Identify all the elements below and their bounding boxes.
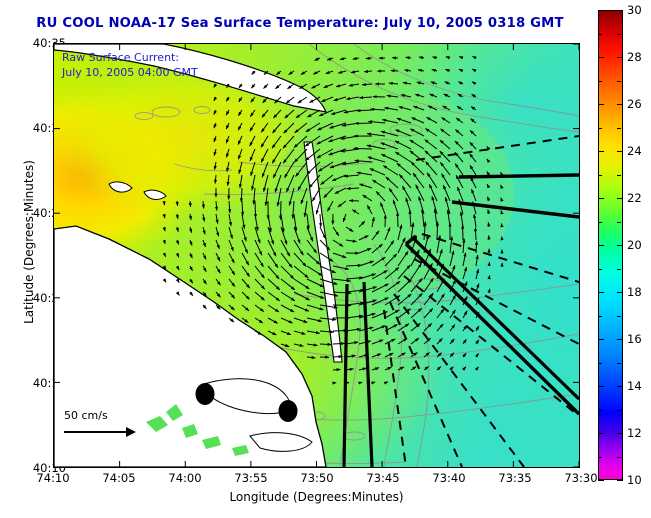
x-tick-label: 73:45 xyxy=(353,471,413,485)
x-tick-label: 73:35 xyxy=(485,471,545,485)
colorbar-tick-label: 24 xyxy=(627,144,642,158)
colorbar-tick-mark xyxy=(598,57,604,58)
x-tick-label: 73:50 xyxy=(287,471,347,485)
colorbar-tick-mark xyxy=(598,433,604,434)
colorbar-tick-mark xyxy=(598,480,604,481)
sst-map-svg xyxy=(54,44,579,467)
annotation-line-2: July 10, 2005 04:00 GMT xyxy=(62,65,198,80)
colorbar-tick-mark xyxy=(617,386,623,387)
colorbar-tick-mark xyxy=(617,480,623,481)
figure-title: RU COOL NOAA-17 Sea Surface Temperature:… xyxy=(0,16,600,31)
colorbar-minor-tick xyxy=(598,316,602,317)
colorbar-tick-label: 16 xyxy=(627,332,642,346)
colorbar-tick-mark xyxy=(617,198,623,199)
colorbar-tick-label: 22 xyxy=(627,191,642,205)
colorbar-minor-tick xyxy=(598,81,602,82)
colorbar-tick-label: 26 xyxy=(627,97,642,111)
colorbar-minor-tick xyxy=(598,175,602,176)
colorbar-tick-mark xyxy=(617,10,623,11)
colorbar-tick-mark xyxy=(617,57,623,58)
colorbar-tick-mark xyxy=(617,339,623,340)
colorbar-tick-mark xyxy=(617,104,623,105)
x-tick-label: 74:10 xyxy=(23,471,83,485)
colorbar-minor-tick xyxy=(617,457,621,458)
x-axis-label: Longitude (Degrees:Minutes) xyxy=(53,490,580,504)
colorbar-tick-label: 14 xyxy=(627,379,642,393)
colorbar-minor-tick xyxy=(617,222,621,223)
colorbar-minor-tick xyxy=(598,363,602,364)
annotation-line-1: Raw Surface Current: xyxy=(62,50,198,65)
colorbar-minor-tick xyxy=(617,316,621,317)
colorbar-tick-mark xyxy=(598,245,604,246)
colorbar-minor-tick xyxy=(598,34,602,35)
colorbar-tick-label: 18 xyxy=(627,285,642,299)
colorbar-tick-label: 28 xyxy=(627,50,642,64)
colorbar-minor-tick xyxy=(617,363,621,364)
x-tick-label: 73:40 xyxy=(419,471,479,485)
colorbar-minor-tick xyxy=(598,410,602,411)
colorbar-tick-mark xyxy=(598,10,604,11)
colorbar-tick-label: 30 xyxy=(627,3,642,17)
colorbar-tick-mark xyxy=(617,433,623,434)
colorbar-minor-tick xyxy=(598,128,602,129)
x-tick-label: 74:00 xyxy=(155,471,215,485)
colorbar-minor-tick xyxy=(598,269,602,270)
colorbar-tick-label: 12 xyxy=(627,426,642,440)
sst-map-plot[interactable]: Raw Surface Current: July 10, 2005 04:00… xyxy=(53,43,580,468)
colorbar-tick-label: 10 xyxy=(627,473,642,487)
x-tick-label: 73:55 xyxy=(221,471,281,485)
y-axis-label: Latitude (Degrees:Minutes) xyxy=(22,127,36,357)
x-tick-label: 74:05 xyxy=(89,471,149,485)
colorbar-minor-tick xyxy=(617,269,621,270)
colorbar-tick-label: 20 xyxy=(627,238,642,252)
colorbar-tick-mark xyxy=(598,151,604,152)
colorbar-minor-tick xyxy=(617,410,621,411)
station-marker[interactable] xyxy=(196,383,215,405)
current-annotation: Raw Surface Current: July 10, 2005 04:00… xyxy=(62,50,198,80)
colorbar-minor-tick xyxy=(617,81,621,82)
velocity-scale-bar: 50 cm/s xyxy=(64,409,184,437)
colorbar-tick-mark xyxy=(617,292,623,293)
colorbar-minor-tick xyxy=(617,128,621,129)
colorbar-tick-mark xyxy=(617,151,623,152)
colorbar-tick-mark xyxy=(598,292,604,293)
colorbar-minor-tick xyxy=(598,457,602,458)
scale-bar-label: 50 cm/s xyxy=(64,409,184,422)
colorbar-minor-tick xyxy=(598,222,602,223)
colorbar-tick-mark xyxy=(598,386,604,387)
colorbar-tick-mark xyxy=(598,339,604,340)
colorbar-minor-tick xyxy=(617,175,621,176)
colorbar-tick-mark xyxy=(598,198,604,199)
arrow-right-icon xyxy=(64,427,142,437)
colorbar-tick-mark xyxy=(617,245,623,246)
colorbar-tick-mark xyxy=(598,104,604,105)
station-marker[interactable] xyxy=(279,400,298,422)
colorbar-minor-tick xyxy=(617,34,621,35)
figure-canvas: RU COOL NOAA-17 Sea Surface Temperature:… xyxy=(0,0,651,518)
